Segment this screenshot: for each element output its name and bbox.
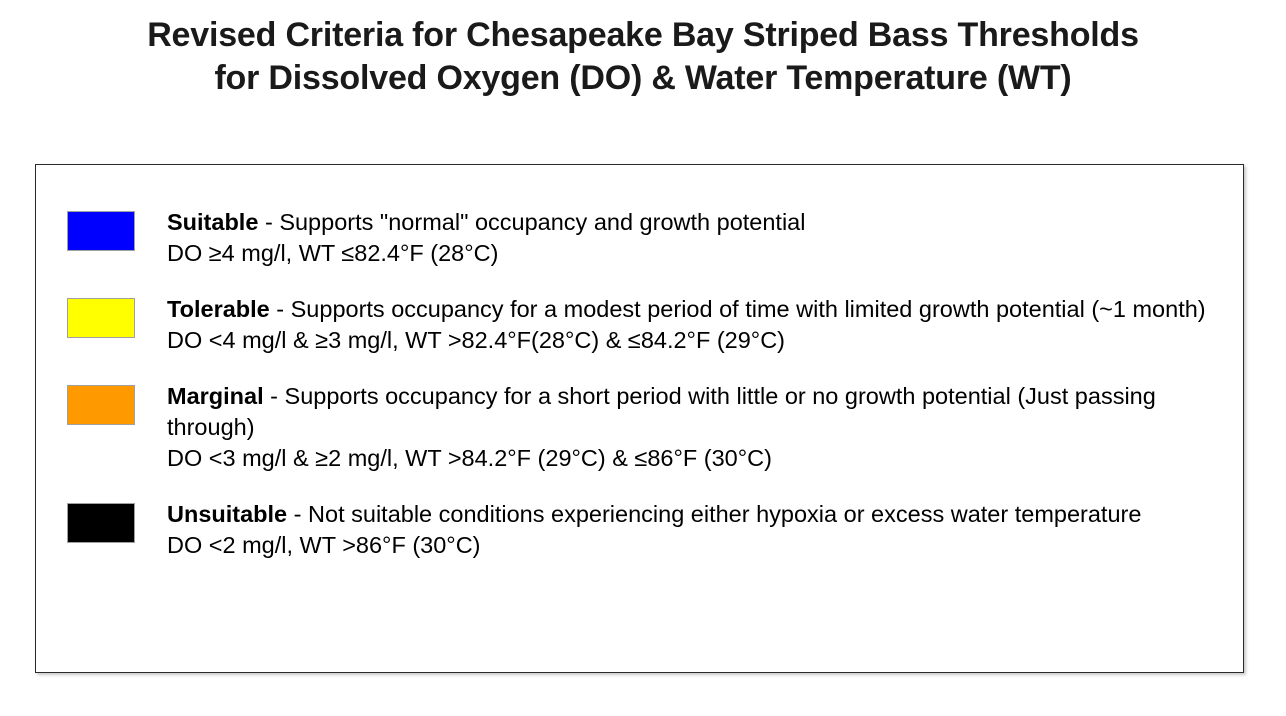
- legend-criteria: DO <2 mg/l, WT >86°F (30°C): [167, 530, 1227, 561]
- legend-list: Suitable - Supports "normal" occupancy a…: [67, 207, 1227, 561]
- legend-separator: -: [264, 383, 285, 409]
- legend-term: Tolerable: [167, 296, 270, 322]
- legend-separator: -: [287, 501, 308, 527]
- color-swatch-blue: [67, 211, 135, 251]
- page-title-line-1: Revised Criteria for Chesapeake Bay Stri…: [0, 14, 1286, 57]
- legend-entry-description-line: Tolerable - Supports occupancy for a mod…: [167, 294, 1227, 325]
- legend-term: Marginal: [167, 383, 264, 409]
- legend-entry-text: Tolerable - Supports occupancy for a mod…: [167, 294, 1227, 356]
- legend-description: Not suitable conditions experiencing eit…: [308, 501, 1141, 527]
- legend-entry-unsuitable: Unsuitable - Not suitable conditions exp…: [67, 499, 1227, 561]
- color-swatch-black: [67, 503, 135, 543]
- color-swatch-orange: [67, 385, 135, 425]
- legend-entry-suitable: Suitable - Supports "normal" occupancy a…: [67, 207, 1227, 269]
- color-swatch-yellow: [67, 298, 135, 338]
- page-title: Revised Criteria for Chesapeake Bay Stri…: [0, 14, 1286, 100]
- legend-term: Unsuitable: [167, 501, 287, 527]
- legend-separator: -: [270, 296, 291, 322]
- page-title-line-2: for Dissolved Oxygen (DO) & Water Temper…: [0, 57, 1286, 100]
- legend-entry-description-line: Suitable - Supports "normal" occupancy a…: [167, 207, 1227, 238]
- legend-term: Suitable: [167, 209, 258, 235]
- legend-description: Supports "normal" occupancy and growth p…: [279, 209, 805, 235]
- legend-criteria: DO <3 mg/l & ≥2 mg/l, WT >84.2°F (29°C) …: [167, 443, 1227, 474]
- legend-entry-description-line: Unsuitable - Not suitable conditions exp…: [167, 499, 1227, 530]
- legend-entry-text: Marginal - Supports occupancy for a shor…: [167, 381, 1227, 474]
- legend-entry-description-line: Marginal - Supports occupancy for a shor…: [167, 381, 1227, 443]
- legend-panel: Suitable - Supports "normal" occupancy a…: [35, 164, 1244, 673]
- legend-entry-marginal: Marginal - Supports occupancy for a shor…: [67, 381, 1227, 474]
- legend-criteria: DO ≥4 mg/l, WT ≤82.4°F (28°C): [167, 238, 1227, 269]
- legend-description: Supports occupancy for a modest period o…: [291, 296, 1206, 322]
- legend-criteria: DO <4 mg/l & ≥3 mg/l, WT >82.4°F(28°C) &…: [167, 325, 1227, 356]
- legend-separator: -: [258, 209, 279, 235]
- legend-description: Supports occupancy for a short period wi…: [167, 383, 1156, 440]
- legend-entry-text: Unsuitable - Not suitable conditions exp…: [167, 499, 1227, 561]
- legend-entry-tolerable: Tolerable - Supports occupancy for a mod…: [67, 294, 1227, 356]
- legend-entry-text: Suitable - Supports "normal" occupancy a…: [167, 207, 1227, 269]
